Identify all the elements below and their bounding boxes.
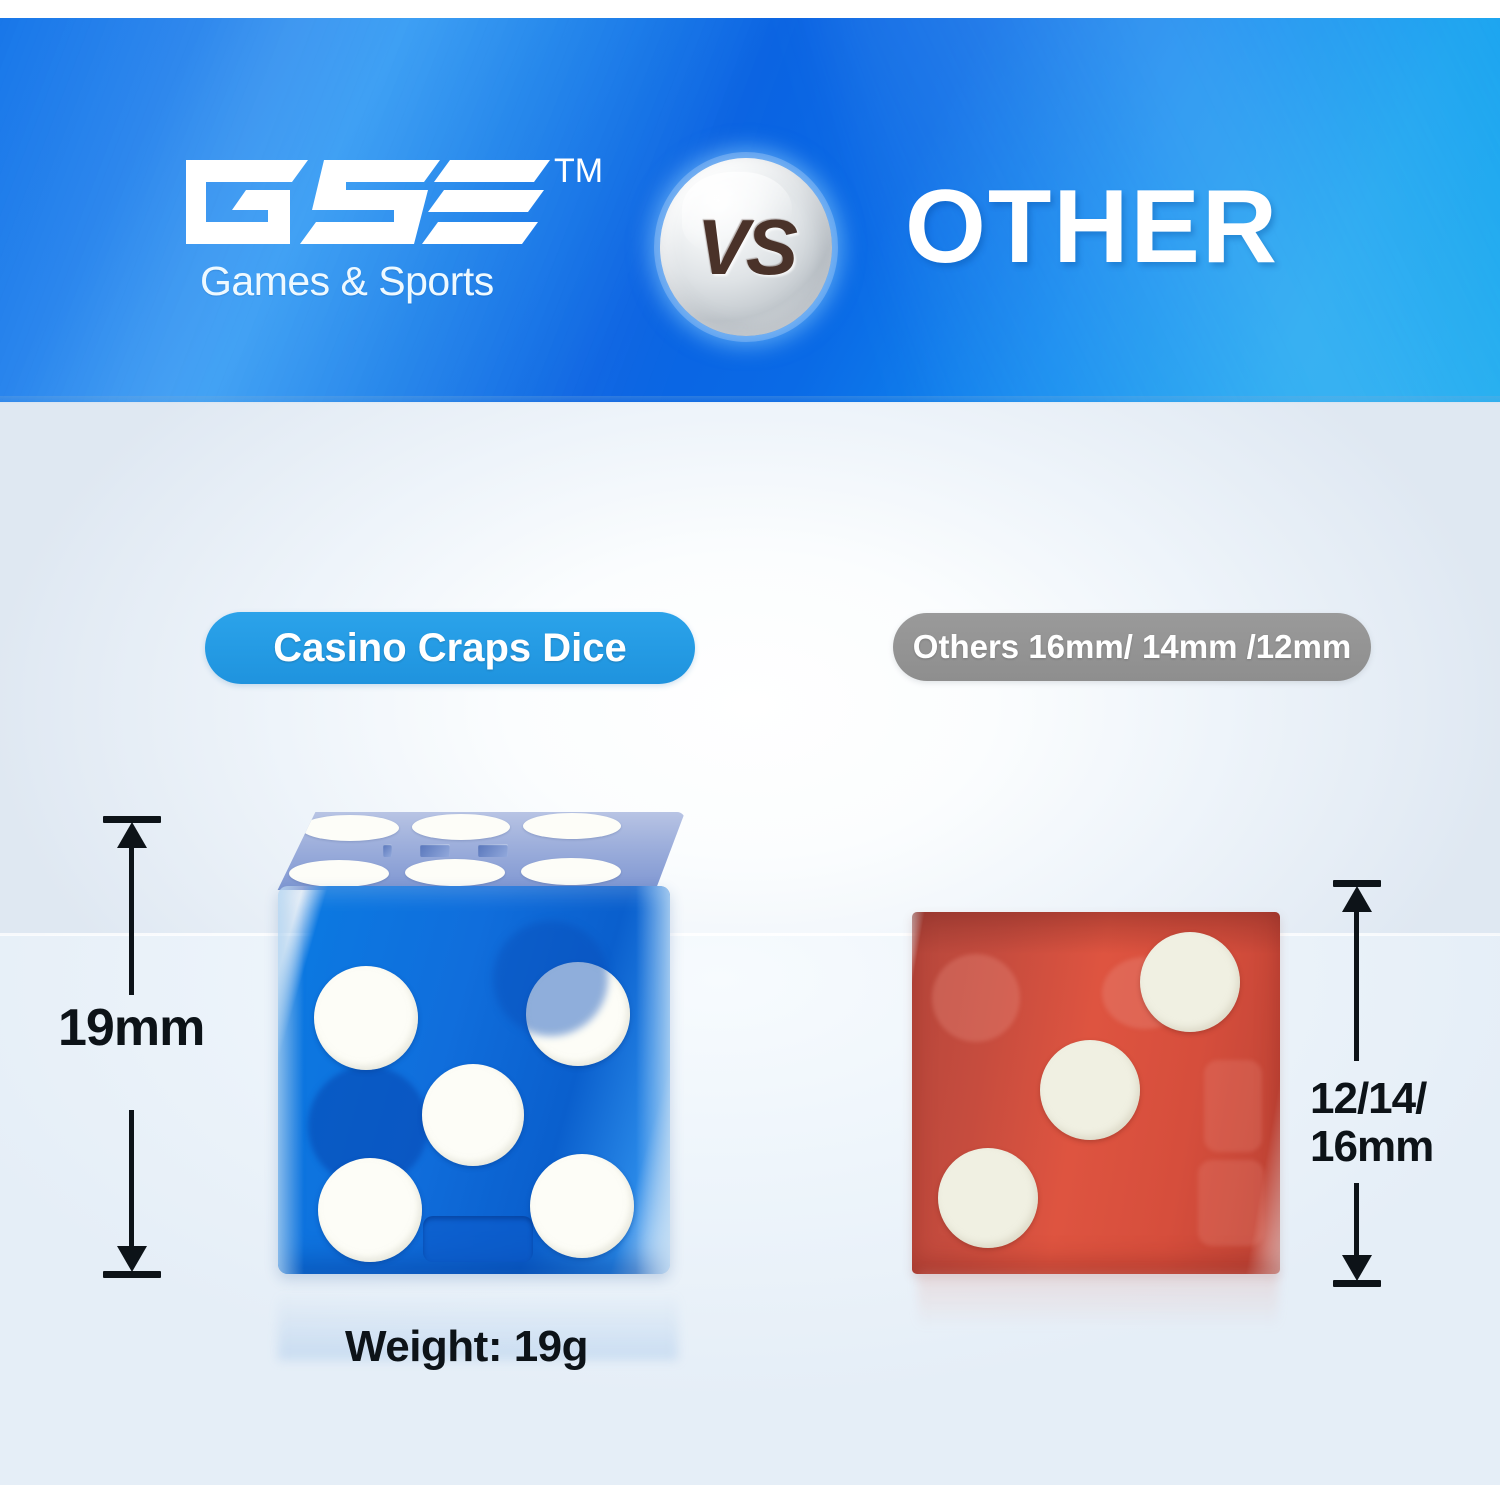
dimension-shaft-lower [1354, 1183, 1359, 1261]
weight-caption: Weight: 19g [345, 1322, 588, 1372]
dice-ghost-pip [1198, 1160, 1264, 1246]
infographic-page: TM Games & Sports VS OTHER Casino Craps … [0, 0, 1500, 1500]
dice-pip [530, 1154, 634, 1258]
dimension-label-left: 19mm [58, 1000, 204, 1056]
dice-pip [318, 1158, 422, 1262]
dimension-bottom-tick [1333, 1280, 1381, 1287]
engraved-glyph [420, 844, 450, 857]
dice-pip [301, 815, 399, 841]
dice-serial-engraving [383, 841, 563, 859]
vs-badge-icon: VS [660, 158, 832, 336]
dice-pip [412, 814, 510, 840]
dice-ghost-pip [1204, 1060, 1262, 1152]
engraved-glyph [383, 844, 392, 857]
dice-pip [314, 966, 418, 1070]
dice-ghost-pip [932, 954, 1020, 1042]
dice-pip [523, 813, 621, 839]
casino-craps-dice-blue [265, 812, 685, 1282]
dimension-label-right-line2: 16mm [1310, 1123, 1433, 1171]
vs-badge-label: VS [697, 202, 795, 293]
dimension-label-right-line1: 12/14/ [1310, 1075, 1433, 1123]
red-dice-reflection [918, 1272, 1278, 1342]
dice-pip [289, 860, 389, 887]
dice-pip [405, 859, 505, 886]
dice-internal-notch [423, 1216, 533, 1262]
dimension-bottom-tick [103, 1271, 161, 1278]
dice-left-bevel [278, 886, 304, 1274]
product-label-pill: Casino Craps Dice [205, 612, 695, 684]
dimension-shaft-upper [1354, 909, 1359, 1061]
competitor-dice-red [912, 912, 1280, 1274]
arrow-down-icon [117, 1246, 147, 1272]
dice-pip [1040, 1040, 1140, 1140]
dice-pip [521, 858, 621, 885]
arrow-down-icon [1342, 1255, 1372, 1281]
dice-pip [422, 1064, 524, 1166]
bottom-margin [0, 1485, 1500, 1500]
dimension-shaft-upper [129, 845, 134, 995]
logo-tagline: Games & Sports [200, 258, 494, 305]
competitor-title: OTHER [905, 168, 1279, 287]
gse-wordmark-icon [172, 148, 552, 256]
engraved-glyph [478, 844, 508, 857]
dimension-shaft-lower [129, 1110, 134, 1250]
banner-drop-shadow [0, 396, 1500, 404]
dice-top-face-inner [265, 812, 685, 890]
dice-pip [526, 962, 630, 1066]
dice-right-bevel [636, 886, 670, 1274]
competitor-label-pill: Others 16mm/ 14mm /12mm [893, 613, 1371, 681]
dice-pip [938, 1148, 1038, 1248]
dice-front-face [912, 912, 1280, 1274]
dice-front-face [278, 886, 670, 1274]
trademark-symbol: TM [554, 152, 603, 191]
dice-top-face [265, 812, 685, 890]
dice-pip [1140, 932, 1240, 1032]
dimension-label-right: 12/14/ 16mm [1310, 1075, 1433, 1170]
